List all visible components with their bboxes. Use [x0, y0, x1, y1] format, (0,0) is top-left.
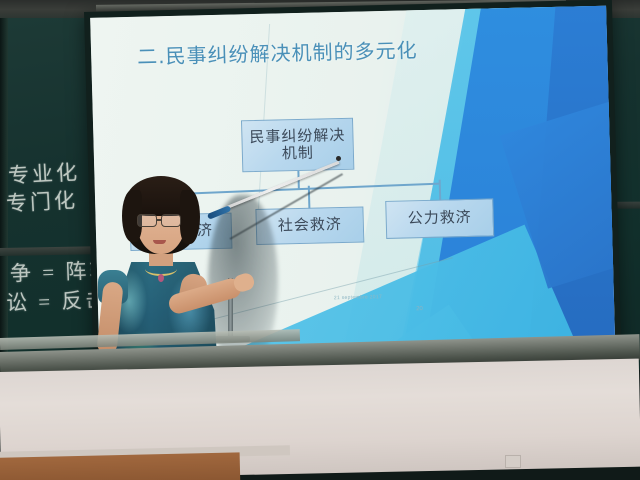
floor [0, 452, 240, 480]
necklace-pendant [158, 274, 164, 282]
classroom-photo: 专业化 专门化 争 = 阵轧 讼 = 反击诉 二.民事纠纷解决机制的多元化 [0, 0, 640, 480]
org-node-child-3: 公力救济 [385, 198, 494, 239]
connector-child-3 [439, 180, 442, 201]
wall-outlet [505, 455, 521, 468]
presenter-hair-right [180, 190, 200, 244]
glasses-left-lens [137, 214, 157, 227]
presenter-mouth [153, 240, 166, 244]
slide-page-number: 20 [416, 306, 423, 312]
glasses-bridge [156, 219, 162, 221]
pointer-tip [336, 156, 341, 161]
glasses-right-lens [161, 214, 181, 227]
chalk-line-2: 专门化 [5, 184, 78, 218]
slide-date: 21 septembre 2017 [334, 294, 382, 303]
